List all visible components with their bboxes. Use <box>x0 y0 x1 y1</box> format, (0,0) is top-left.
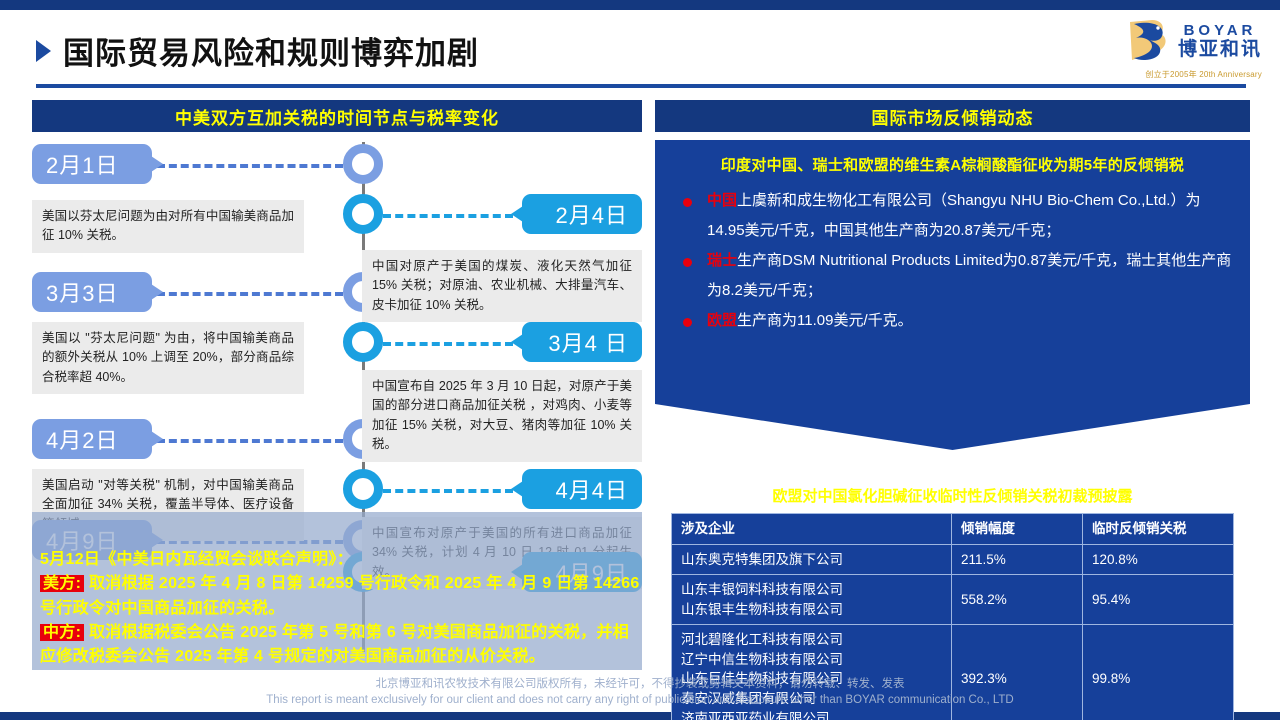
india-box-title: 印度对中国、瑞士和欧盟的维生素A棕榈酸酯征收为期5年的反倾销税 <box>655 154 1250 175</box>
timeline-pill-us-1: 2月1日 <box>32 144 152 184</box>
bullet-country-3: 欧盟 <box>707 312 737 329</box>
eu-table-title: 欧盟对中国氯化胆碱征收临时性反倾销关税初裁预披露 <box>655 485 1250 506</box>
statement-cn-text: 取消根据税委会公告 2025 年第 5 号和第 6 号对美国商品加征的关税，并相… <box>40 624 629 665</box>
timeline-node-1 <box>343 144 383 184</box>
list-item: 瑞士生产商DSM Nutritional Products Limited为0.… <box>677 246 1233 306</box>
logo-anniversary-text: 创立于2005年 20th Anniversary <box>1145 69 1262 80</box>
antidumping-section-header: 国际市场反倾销动态 <box>655 100 1250 132</box>
td-duty: 95.4% <box>1083 575 1234 625</box>
bullet-dot-icon <box>683 318 692 327</box>
title-underline <box>36 84 1246 88</box>
table-header-row: 涉及企业 倾销幅度 临时反倾销关税 <box>672 514 1234 545</box>
bullet-text-1: 上虞新和成生物化工有限公司（Shangyu NHU Bio-Chem Co.,L… <box>707 192 1200 239</box>
bullet-country-2: 瑞士 <box>707 252 737 269</box>
logo-cn-text: 博亚和讯 <box>1178 40 1262 59</box>
list-item: 欧盟生产商为11.09美元/千克。 <box>677 306 1233 336</box>
footer: 北京博亚和讯农牧技术有限公司版权所有，未经许可，不得抄袭或剪辑文本资料，请勿转载… <box>0 675 1280 706</box>
timeline-pill-us-5: 4月2日 <box>32 419 152 459</box>
timeline-pill-cn-6: 4月4日 <box>522 469 642 509</box>
timeline-date-4: 3月4 日 <box>548 326 628 358</box>
brand-logo: BOYAR 博亚和讯 创立于2005年 20th Anniversary <box>1076 12 1262 84</box>
bullet-dot-icon <box>683 198 692 207</box>
antidumping-section-title: 国际市场反倾销动态 <box>872 104 1034 129</box>
timeline-node-4 <box>343 322 383 362</box>
timeline-date-6: 4月4日 <box>556 473 628 505</box>
bullet-text-2: 生产商DSM Nutritional Products Limited为0.87… <box>707 252 1231 299</box>
th-company: 涉及企业 <box>672 514 952 545</box>
th-duty: 临时反倾销关税 <box>1083 514 1234 545</box>
timeline-desc-1: 美国以芬太尼问题为由对所有中国输美商品加征 10% 关税。 <box>32 200 304 253</box>
statement-line-1: 5月12日《中美日内瓦经贸会谈联合声明》： <box>40 548 640 572</box>
joint-statement-text: 5月12日《中美日内瓦经贸会谈联合声明》： 美方: 取消根据 2025 年 4 … <box>40 548 640 670</box>
timeline-dash-6 <box>383 489 513 493</box>
footer-line-cn: 北京博亚和讯农牧技术有限公司版权所有，未经许可，不得抄袭或剪辑文本资料，请勿转载… <box>0 675 1280 691</box>
timeline-pill-cn-2: 2月4日 <box>522 194 642 234</box>
timeline-desc-3: 美国以 "芬太尼问题" 为由，将中国输美商品的额外关税从 10% 上调至 20%… <box>32 322 304 394</box>
timeline-dash-2 <box>383 214 513 218</box>
td-dumping: 558.2% <box>952 575 1083 625</box>
td-duty: 120.8% <box>1083 544 1234 575</box>
statement-us-line: 美方: 取消根据 2025 年 4 月 8 日第 14259 号行政令和 202… <box>40 572 640 621</box>
bullet-country-1: 中国 <box>707 192 737 209</box>
td-company: 山东丰银饲料科技有限公司 山东银丰生物科技有限公司 <box>672 575 952 625</box>
timeline-section-header: 中美双方互加关税的时间节点与税率变化 <box>32 100 642 132</box>
slide-root: 国际贸易风险和规则博弈加剧 BOYAR 博亚和讯 创立于2005年 20th A… <box>0 0 1280 720</box>
timeline-date-5: 4月2日 <box>46 423 118 455</box>
list-item: 中国上虞新和成生物化工有限公司（Shangyu NHU Bio-Chem Co.… <box>677 186 1233 246</box>
page-title-row: 国际贸易风险和规则博弈加剧 <box>36 28 479 73</box>
antidumping-panel: 国际市场反倾销动态 印度对中国、瑞士和欧盟的维生素A棕榈酸酯征收为期5年的反倾销… <box>655 100 1250 670</box>
td-dumping: 211.5% <box>952 544 1083 575</box>
top-navy-bar <box>0 0 1280 10</box>
timeline-dash-5 <box>157 439 343 443</box>
statement-us-tag: 美方: <box>40 575 84 592</box>
india-bullet-list: 中国上虞新和成生物化工有限公司（Shangyu NHU Bio-Chem Co.… <box>677 186 1233 336</box>
logo-en-text: BOYAR <box>1184 23 1257 38</box>
footer-line-en: This report is meant exclusively for our… <box>0 694 1280 706</box>
timeline-node-2 <box>343 194 383 234</box>
bullet-dot-icon <box>683 258 692 267</box>
triangle-bullet-icon <box>36 40 51 62</box>
timeline-section-title: 中美双方互加关税的时间节点与税率变化 <box>175 104 499 129</box>
statement-us-text: 取消根据 2025 年 4 月 8 日第 14259 号行政令和 2025 年 … <box>40 575 640 616</box>
timeline-date-1: 2月1日 <box>46 148 118 180</box>
td-company: 山东奥克特集团及旗下公司 <box>672 544 952 575</box>
timeline-dash-3 <box>157 292 343 296</box>
th-dumping: 倾销幅度 <box>952 514 1083 545</box>
bullet-text-3: 生产商为11.09美元/千克。 <box>737 312 913 329</box>
bird-b-logo-icon <box>1122 16 1174 66</box>
timeline-desc-4: 中国宣布自 2025 年 3 月 10 日起，对原产于美国的部分进口商品加征关税… <box>362 370 642 462</box>
table-row: 山东奥克特集团及旗下公司 211.5% 120.8% <box>672 544 1234 575</box>
timeline-dash-1 <box>157 164 343 168</box>
timeline-dash-4 <box>383 342 513 346</box>
timeline-pill-us-3: 3月3日 <box>32 272 152 312</box>
timeline-desc-2: 中国对原产于美国的煤炭、液化天然气加征 15% 关税；对原油、农业机械、大排量汽… <box>362 250 642 322</box>
statement-cn-line: 中方: 取消根据税委会公告 2025 年第 5 号和第 6 号对美国商品加征的关… <box>40 621 640 670</box>
statement-cn-tag: 中方: <box>40 624 84 641</box>
timeline-date-3: 3月3日 <box>46 276 118 308</box>
table-row: 山东丰银饲料科技有限公司 山东银丰生物科技有限公司 558.2% 95.4% <box>672 575 1234 625</box>
page-title: 国际贸易风险和规则博弈加剧 <box>63 28 479 73</box>
timeline-pill-cn-4: 3月4 日 <box>522 322 642 362</box>
timeline-date-2: 2月4日 <box>556 198 628 230</box>
timeline-node-6 <box>343 469 383 509</box>
